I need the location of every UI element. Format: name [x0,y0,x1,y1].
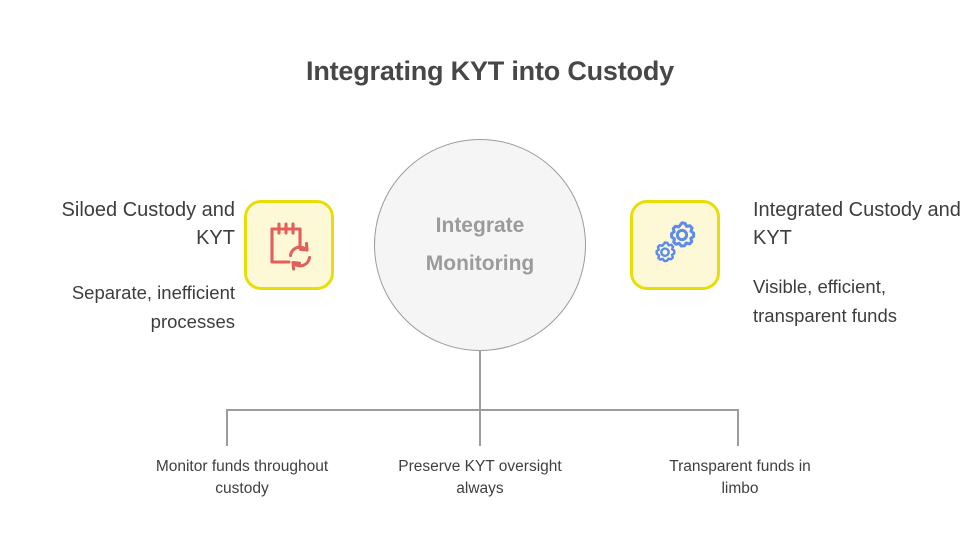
right-branch-body: Visible, efficient, transparent funds [753,272,968,330]
gears-icon [648,218,702,272]
left-icon-card[interactable] [244,200,334,290]
connector-horizontal-bar [226,409,739,411]
connector-drop-left [226,409,228,446]
outcome-label-2: Preserve KYT oversight always [380,456,580,500]
left-branch-heading: Siloed Custody and KYT [20,196,235,252]
notepad-sync-icon [262,218,316,272]
outcome-label-1: Monitor funds throughout custody [152,456,332,500]
hub-node[interactable]: Integrate Monitoring [374,139,586,351]
left-branch-text: Siloed Custody and KYT Separate, ineffic… [20,196,235,336]
outcome-label-3: Transparent funds in limbo [650,456,830,500]
right-icon-card[interactable] [630,200,720,290]
page-title: Integrating KYT into Custody [0,56,980,87]
hub-label: Integrate Monitoring [426,207,534,283]
right-branch-heading: Integrated Custody and KYT [753,196,968,252]
connector-stem-top [479,351,481,411]
connector-drop-right [737,409,739,446]
diagram-canvas: Integrating KYT into Custody Siloed Cust… [0,0,980,557]
connector-drop-middle [479,409,481,446]
left-branch-body: Separate, inefficient processes [20,278,235,336]
right-branch-text: Integrated Custody and KYT Visible, effi… [753,196,968,330]
